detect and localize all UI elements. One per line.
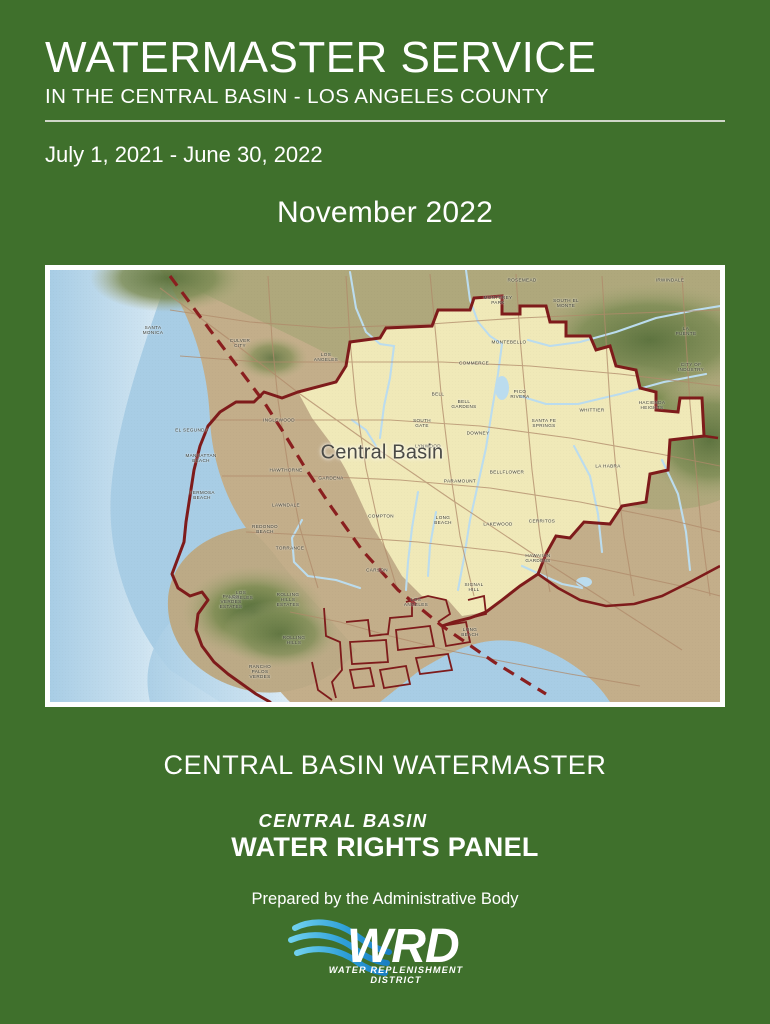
- panel-kicker: CENTRAL BASIN: [0, 811, 770, 831]
- prepared-by: Prepared by the Administrative Body: [0, 890, 770, 909]
- panel-name: WATER RIGHTS PANEL: [0, 832, 770, 862]
- reporting-period: July 1, 2021 - June 30, 2022: [45, 141, 725, 169]
- page-title: WATERMASTER SERVICE: [45, 34, 725, 82]
- panel-block: CENTRAL BASIN WATER RIGHTS PANEL: [0, 811, 770, 862]
- central-basin-map: SANTAMONICA CULVERCITY LOSANGELES EL SEG…: [50, 270, 720, 702]
- map-frame: SANTAMONICA CULVERCITY LOSANGELES EL SEG…: [45, 265, 725, 707]
- wrd-logo: WRD WATER REPLENISHMENT DISTRICT: [0, 912, 770, 984]
- report-cover-page: WATERMASTER SERVICE IN THE CENTRAL BASIN…: [0, 0, 770, 1024]
- page-subtitle: IN THE CENTRAL BASIN - LOS ANGELES COUNT…: [45, 84, 725, 110]
- reservoir-whittier-narrows: [495, 376, 509, 400]
- cover-header: WATERMASTER SERVICE IN THE CENTRAL BASIN…: [45, 34, 725, 169]
- map-texture: [50, 270, 720, 702]
- map-graphic: [50, 270, 720, 702]
- issue-date: November 2022: [0, 196, 770, 230]
- wrd-tagline: WATER REPLENISHMENT DISTRICT: [285, 965, 485, 985]
- organization-name: CENTRAL BASIN WATERMASTER: [0, 750, 770, 781]
- reservoir-alamitos: [576, 577, 592, 587]
- header-divider: [45, 120, 725, 122]
- cover-footer: CENTRAL BASIN WATERMASTER CENTRAL BASIN …: [0, 750, 770, 909]
